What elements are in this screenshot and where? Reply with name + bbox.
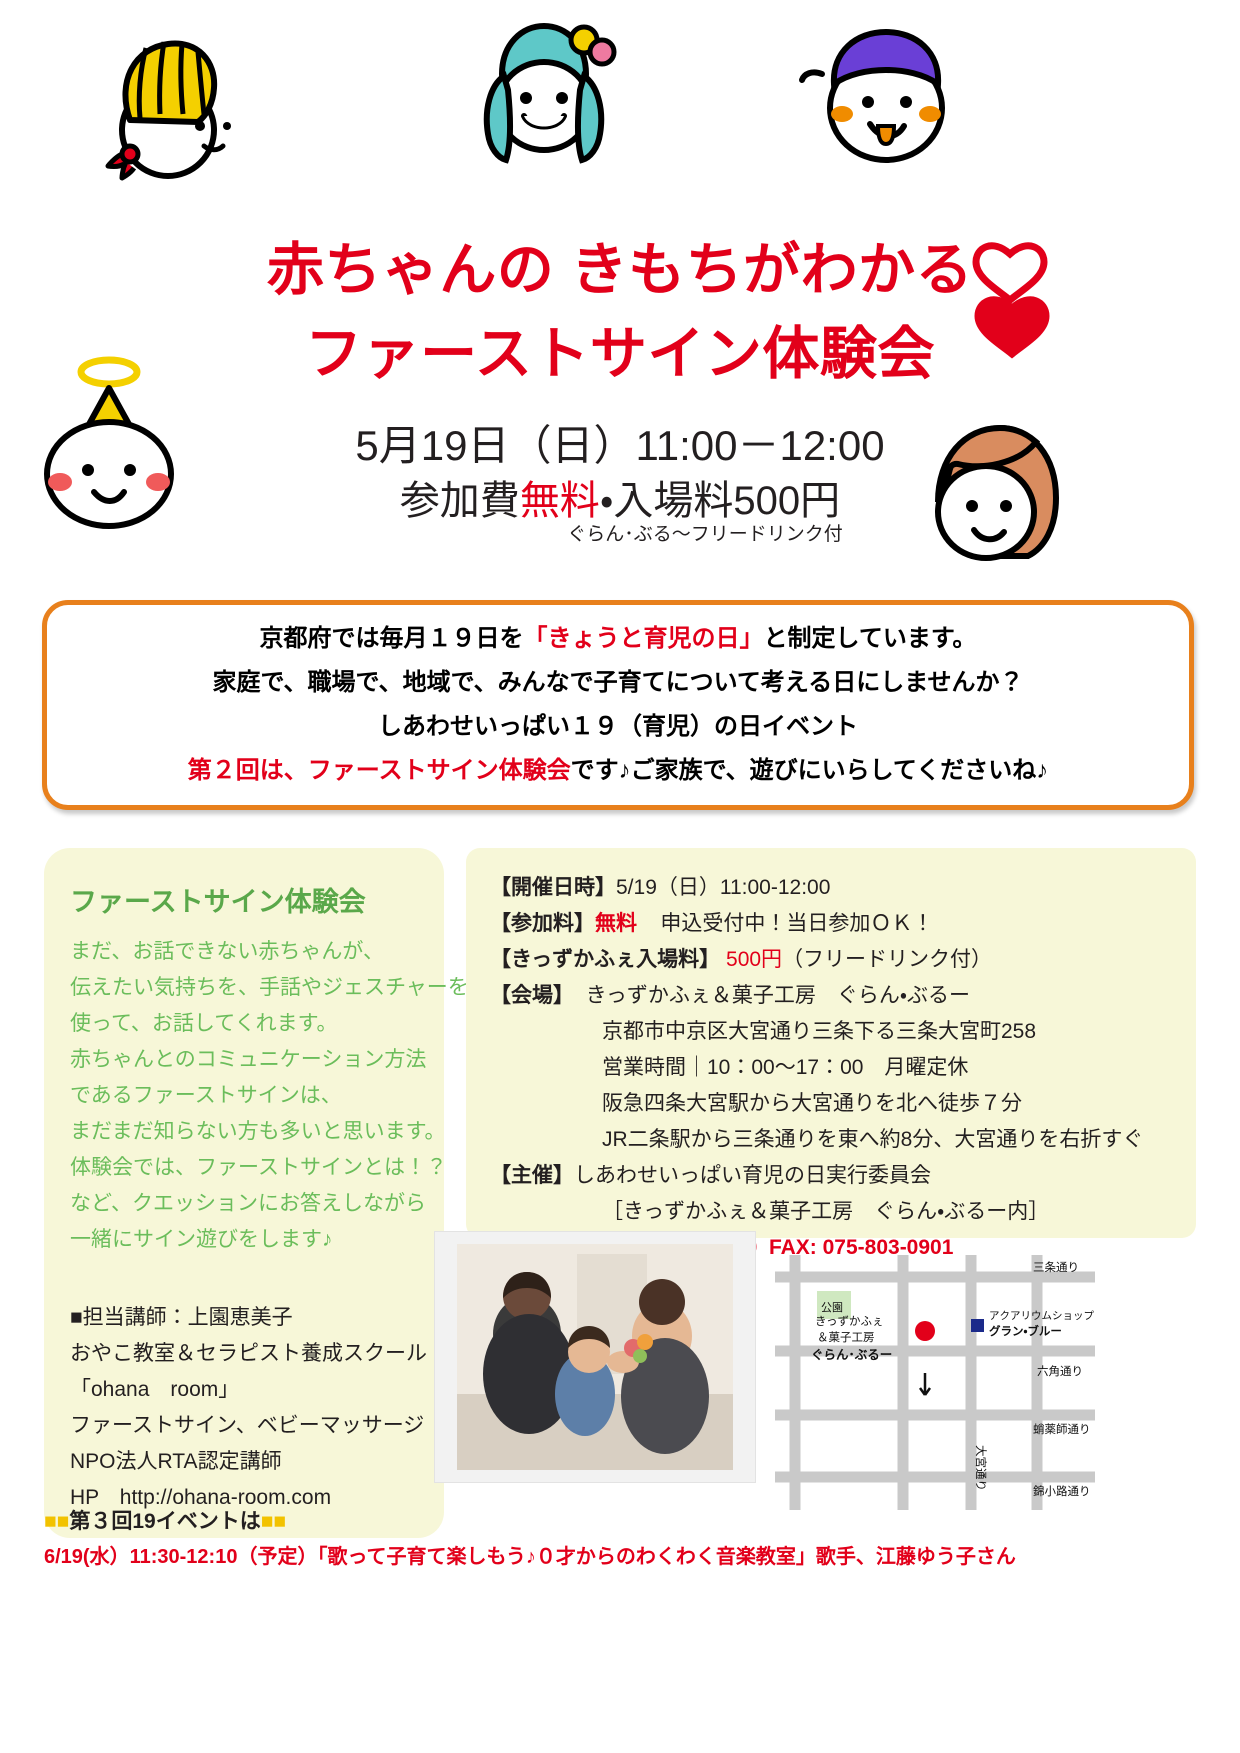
detail-row-host: 【主催】しあわせいっぱい育児の日実行委員会	[490, 1158, 1196, 1194]
detail-row-entry-fee: 【きっずかふぇ入場料】 500円（フリードリンク付）	[490, 942, 1196, 978]
announcement-line-4-rest: です♪ご家族で、遊びにいらしてくださいね♪	[571, 757, 1049, 784]
description-line: 伝えたい気持ちを、手話やジェスチャーを	[70, 970, 418, 1006]
flyer-page: 赤ちゃんの きもちがわかる ファーストサイン体験会 5月19日（日）11:00－…	[0, 0, 1240, 1753]
next-event-heading: ■■第３回19イベントは■■	[44, 1505, 1204, 1539]
description-line: 一緒にサイン遊びをします♪	[70, 1222, 418, 1258]
announcement-line-3: しあわせいっぱい１９（育児）の日イベント	[378, 705, 858, 749]
detail-label-entry-fee: 【きっずかふぇ入場料】	[490, 948, 720, 971]
description-line: まだまだ知らない方も多いと思います。	[70, 1114, 418, 1150]
location-map: 公園 三条通り きっずかふぇ ＆菓子工房 ぐらん･ぶるー アクアリウムショップ …	[775, 1255, 1095, 1510]
instructor-line: ■担当講師：上園恵美子	[70, 1300, 418, 1336]
announcement-line-2: 家庭で、職場で、地域で、みんなで子育てについて考える日にしませんか？	[213, 661, 1024, 705]
event-photo-frame	[435, 1232, 755, 1482]
fee-middle-label: ・入場料	[600, 479, 734, 523]
map-label-sanjo: 三条通り	[1033, 1260, 1079, 1274]
detail-label-fee: 【参加料】	[490, 912, 595, 935]
map-marker-venue	[915, 1321, 935, 1341]
kid-face-twintails-icon	[452, 14, 627, 199]
map-label-rokkaku: 六角通り	[1037, 1365, 1083, 1378]
map-label-shop-2: ＆菓子工房	[817, 1331, 875, 1344]
next-event-footer: ■■第３回19イベントは■■ 6/19(水）11:30-12:10（予定）「歌っ…	[44, 1505, 1204, 1575]
fee-free-label: 無料	[520, 479, 600, 523]
description-line: まだ、お話できない赤ちゃんが、	[70, 934, 418, 970]
instructor-line: ファーストサイン、ベビーマッサージ	[70, 1408, 418, 1444]
description-line: 使って、お話してくれます。	[70, 1006, 418, 1042]
instructor-line: NPO法人RTA認定講師	[70, 1444, 418, 1480]
next-event-heading-marker-right: ■■	[261, 1510, 286, 1533]
detail-label-datetime: 【開催日時】	[490, 876, 616, 899]
announcement-line-1: 京都府では毎月１９日を「きょうと育児の日」と制定しています。	[260, 617, 977, 661]
kid-face-purple-hair-icon	[786, 22, 986, 182]
description-heading: ファーストサイン体験会	[70, 882, 418, 922]
detail-value-host: しあわせいっぱい育児の日実行委員会	[574, 1164, 931, 1187]
detail-note-fee: 申込受付中！当日参加ＯＫ！	[660, 912, 933, 935]
map-label-omiya: 大宮通り	[974, 1445, 988, 1491]
event-photo	[457, 1244, 733, 1470]
announcement-line-4: 第２回は、ファーストサイン体験会です♪ご家族で、遊びにいらしてくださいね♪	[188, 749, 1048, 793]
description-line: など、クエッションにお答えしながら	[70, 1186, 418, 1222]
detail-value-fee: 無料	[595, 912, 637, 935]
map-label-nishikikoji: 錦小路通り	[1033, 1484, 1091, 1498]
description-line: 体験会では、ファーストサインとは！？	[70, 1150, 418, 1186]
map-label-park: 公園	[821, 1301, 843, 1314]
hero-section: 赤ちゃんの きもちがわかる ファーストサイン体験会 5月19日（日）11:00－…	[0, 228, 1240, 548]
detail-access-jr: JR二条駅から三条通りを東へ約8分、大宮通りを右折すぐ	[490, 1122, 1196, 1158]
description-panel: ファーストサイン体験会 まだ、お話できない赤ちゃんが、 伝えたい気持ちを、手話や…	[44, 848, 444, 1538]
detail-venue-hours: 営業時間｜10：00〜17：00 月曜定休	[490, 1050, 1196, 1086]
kid-face-striped-hair-icon	[86, 22, 256, 192]
announcement-line-1-a: 京都府では毎月１９日を	[260, 625, 524, 652]
detail-venue-address: 京都市中京区大宮通り三条下る三条大宮町258	[490, 1014, 1196, 1050]
detail-row-fee: 【参加料】無料 申込受付中！当日参加ＯＫ！	[490, 906, 1196, 942]
detail-row-datetime: 【開催日時】5/19（日）11:00-12:00	[490, 870, 1196, 906]
announcement-line-4-highlight: 第２回は、ファーストサイン体験会	[188, 757, 571, 784]
detail-label-host: 【主催】	[490, 1164, 574, 1187]
next-event-heading-marker-left: ■■	[44, 1510, 69, 1533]
flyer-title-line-1: 赤ちゃんの きもちがわかる	[0, 228, 1240, 312]
detail-row-venue: 【会場】 きっずかふぇ＆菓子工房 ぐらん・ぶるー	[490, 978, 1196, 1014]
map-label-shop-3: ぐらん･ぶるー	[811, 1348, 892, 1362]
detail-label-venue: 【会場】	[490, 984, 574, 1007]
event-datetime: 5月19日（日）11:00－12:00	[0, 418, 1240, 474]
flyer-title-line-2: ファーストサイン体験会	[0, 312, 1240, 396]
next-event-heading-text: 第３回19イベントは	[69, 1510, 260, 1533]
fee-amount-label: 500円	[733, 479, 840, 523]
announcement-line-1-highlight: 「きょうと育児の日」	[524, 625, 764, 652]
announcement-line-1-b: と制定しています。	[764, 625, 977, 652]
free-drink-note: ぐらん･ぶる～フリードリンク付	[0, 522, 1240, 548]
fee-summary: 参加費無料・入場料500円	[0, 474, 1240, 528]
instructor-line: おやこ教室＆セラピスト養成スクール	[70, 1336, 418, 1372]
map-label-takoyakushi: 蛸薬師通り	[1033, 1422, 1091, 1436]
fee-prefix-label: 参加費	[400, 479, 520, 523]
detail-value-datetime: 5/19（日）11:00-12:00	[616, 876, 830, 899]
map-label-aqua-2: グラン・ブルー	[989, 1324, 1062, 1338]
next-event-detail: 6/19(水）11:30-12:10（予定）「歌って子育て楽しもう♪０才からのわ…	[44, 1539, 1204, 1575]
map-label-shop-1: きっずかふぇ	[815, 1315, 884, 1328]
detail-note-entry-fee: （フリードリンク付）	[782, 948, 992, 971]
detail-value-entry-fee: 500円	[726, 948, 782, 971]
map-label-aqua-1: アクアリウムショップ	[989, 1310, 1094, 1322]
instructor-line: 「ohana room」	[70, 1372, 418, 1408]
announcement-box: 京都府では毎月１９日を「きょうと育児の日」と制定しています。 家庭で、職場で、地…	[42, 600, 1194, 810]
description-line: 赤ちゃんとのコミュニケーション方法	[70, 1042, 418, 1078]
description-line: であるファーストサインは、	[70, 1078, 418, 1114]
map-marker-aquarium	[971, 1319, 984, 1332]
detail-access-hankyu: 阪急四条大宮駅から大宮通りを北へ徒歩７分	[490, 1086, 1196, 1122]
detail-host-sub: ［きっずかふぇ＆菓子工房 ぐらん・ぶるー内］	[490, 1194, 1196, 1230]
detail-value-venue: きっずかふぇ＆菓子工房 ぐらん・ぶるー	[586, 984, 970, 1007]
instructor-block: ■担当講師：上園恵美子 おやこ教室＆セラピスト養成スクール 「ohana roo…	[70, 1300, 418, 1516]
event-details-panel: 【開催日時】5/19（日）11:00-12:00 【参加料】無料 申込受付中！当…	[466, 848, 1196, 1238]
